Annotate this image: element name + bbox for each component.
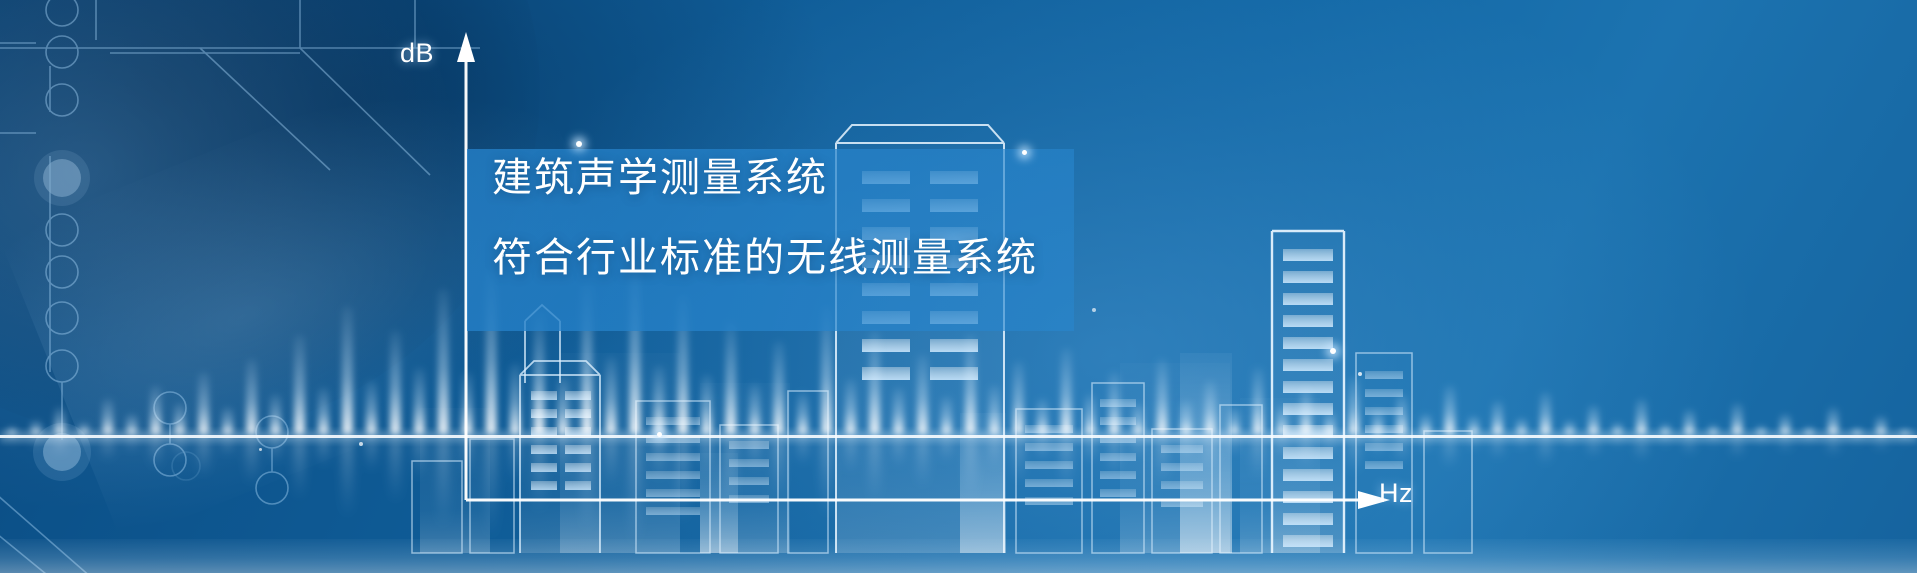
acoustic-measurement-banner: dB Hz 建筑声学测量系统 符合行业标准的无线测量系统 [0,0,1917,573]
page-subtitle: 符合行业标准的无线测量系统 [492,238,1132,278]
y-axis-arrow-icon [457,32,475,62]
x-axis-label: Hz [1379,478,1413,509]
headline-group: 建筑声学测量系统 符合行业标准的无线测量系统 [492,158,1132,278]
page-title: 建筑声学测量系统 [492,158,1132,198]
y-axis-label: dB [400,38,434,69]
